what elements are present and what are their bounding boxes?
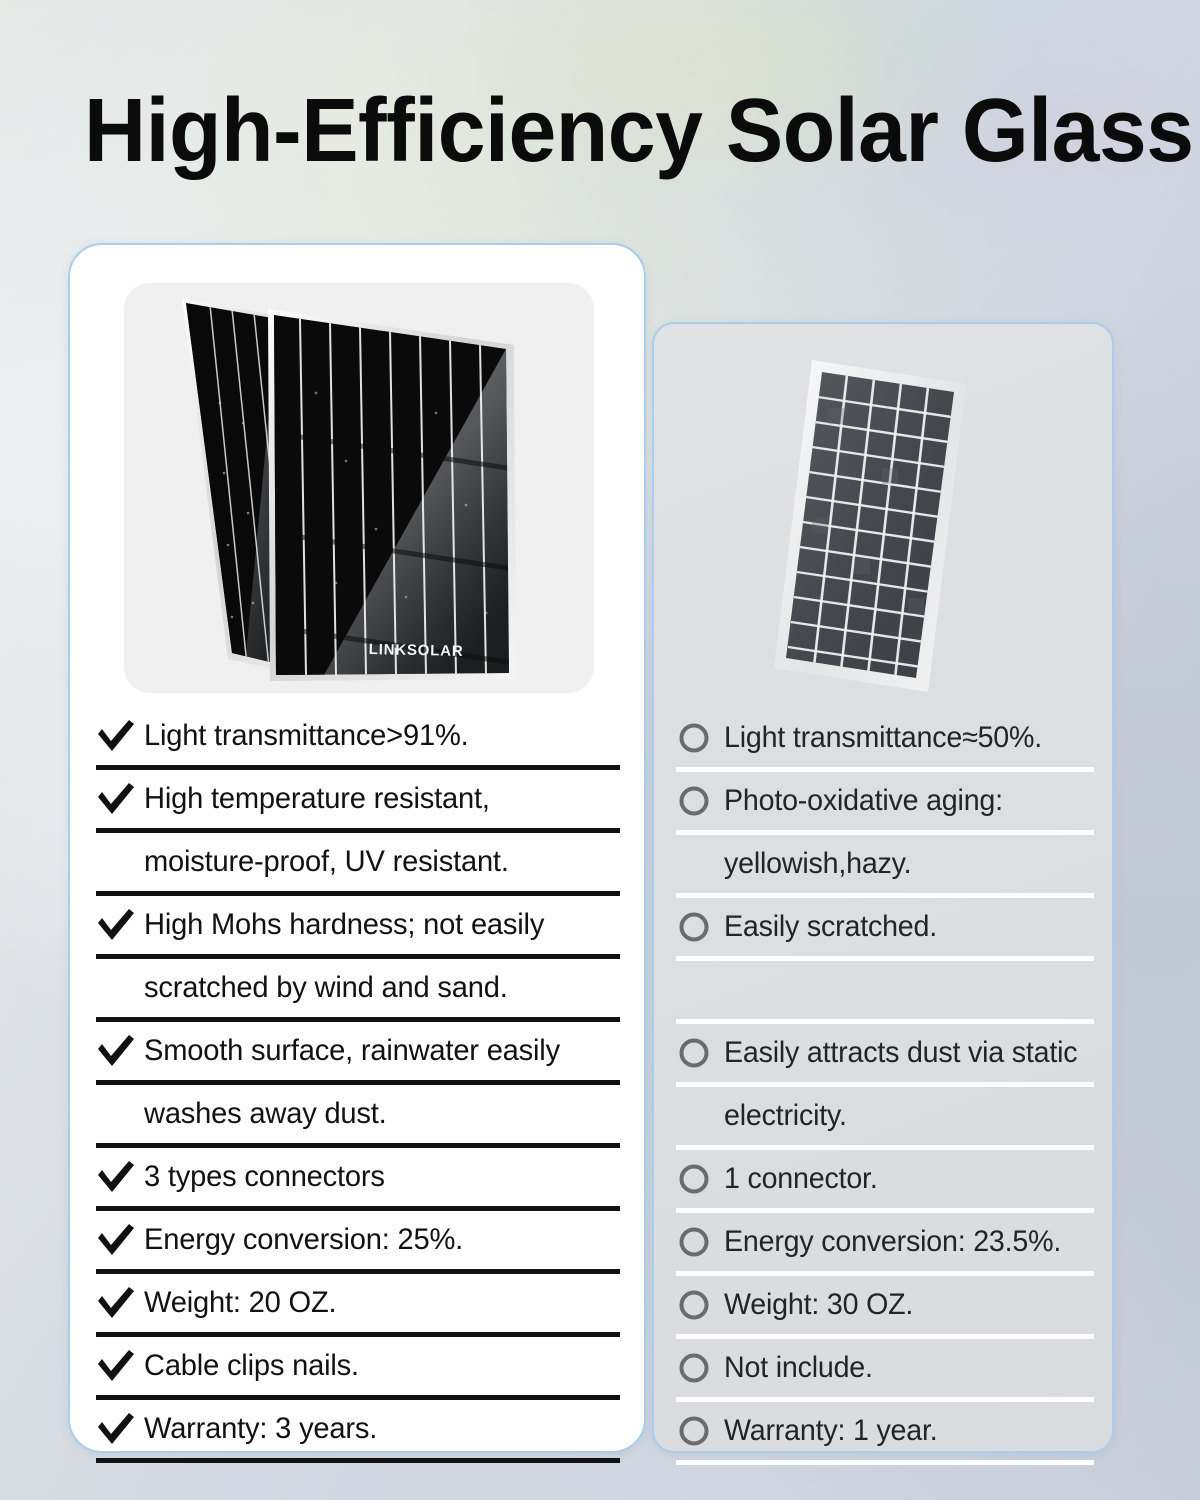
feature-row: Warranty: 3 years. bbox=[96, 1400, 620, 1463]
feature-text: washes away dust. bbox=[144, 1097, 387, 1131]
feature-text: High Mohs hardness; not easily bbox=[144, 908, 544, 942]
check-icon bbox=[96, 1412, 144, 1446]
front-panel: LINKSOLAR bbox=[268, 309, 516, 681]
feature-row: Energy conversion: 25%. bbox=[96, 1211, 620, 1274]
feature-row: 1 connector. bbox=[676, 1150, 1094, 1213]
feature-row: scratched by wind and sand. bbox=[96, 959, 620, 1022]
circle-icon bbox=[676, 911, 724, 943]
feature-row: Cable clips nails. bbox=[96, 1337, 620, 1400]
circle-icon bbox=[676, 785, 724, 817]
feature-text: Smooth surface, rainwater easily bbox=[144, 1034, 560, 1068]
feature-row: Not include. bbox=[676, 1339, 1094, 1402]
feature-text: Not include. bbox=[724, 1351, 873, 1385]
feature-text: 1 connector. bbox=[724, 1162, 878, 1196]
feature-text: moisture-proof, UV resistant. bbox=[144, 845, 509, 879]
feature-row: washes away dust. bbox=[96, 1085, 620, 1148]
check-icon bbox=[96, 1160, 144, 1194]
feature-text: Energy conversion: 25%. bbox=[144, 1223, 463, 1257]
check-icon bbox=[96, 1034, 144, 1068]
feature-text: scratched by wind and sand. bbox=[144, 971, 508, 1005]
circle-icon bbox=[676, 722, 724, 754]
circle-icon bbox=[676, 1289, 724, 1321]
linksolar-panels-illustration: LINKSOLAR bbox=[124, 283, 594, 693]
feature-row: Light transmittance≈50%. bbox=[676, 709, 1094, 772]
check-icon bbox=[96, 719, 144, 753]
feature-text: Easily scratched. bbox=[724, 910, 937, 944]
feature-text: electricity. bbox=[724, 1099, 847, 1133]
feature-row: Smooth surface, rainwater easily bbox=[96, 1022, 620, 1085]
feature-row: Photo-oxidative aging: bbox=[676, 772, 1094, 835]
feature-row: electricity. bbox=[676, 1087, 1094, 1150]
brand-label: LINKSOLAR bbox=[369, 641, 464, 660]
feature-text: Photo-oxidative aging: bbox=[724, 784, 1003, 818]
feature-row: yellowish,hazy. bbox=[676, 835, 1094, 898]
check-icon bbox=[96, 908, 144, 942]
feature-text: Energy conversion: 23.5%. bbox=[724, 1225, 1061, 1259]
feature-text: Warranty: 1 year. bbox=[724, 1414, 938, 1448]
bad-feature-list: Light transmittance≈50%. Photo-oxidative… bbox=[654, 709, 1112, 1465]
feature-text: yellowish,hazy. bbox=[724, 847, 911, 881]
feature-text: Easily attracts dust via static bbox=[724, 1036, 1077, 1070]
feature-row: Energy conversion: 23.5%. bbox=[676, 1213, 1094, 1276]
circle-icon bbox=[676, 1163, 724, 1195]
check-icon bbox=[96, 1349, 144, 1383]
feature-row: Weight: 30 OZ. bbox=[676, 1276, 1094, 1339]
circle-icon bbox=[676, 1352, 724, 1384]
feature-text: Cable clips nails. bbox=[144, 1349, 359, 1383]
feature-text: Light transmittance≈50%. bbox=[724, 721, 1042, 755]
feature-row: Weight: 20 OZ. bbox=[96, 1274, 620, 1337]
feature-text: Warranty: 3 years. bbox=[144, 1412, 377, 1446]
feature-text: 3 types connectors bbox=[144, 1160, 385, 1194]
feature-row: Easily attracts dust via static bbox=[676, 1024, 1094, 1087]
feature-text: Light transmittance>91%. bbox=[144, 719, 469, 753]
feature-row: 3 types connectors bbox=[96, 1148, 620, 1211]
good-feature-list: Light transmittance>91%. High temperatur… bbox=[70, 707, 644, 1463]
good-product-image: LINKSOLAR bbox=[124, 283, 594, 693]
feature-row: moisture-proof, UV resistant. bbox=[96, 833, 620, 896]
bad-product-image bbox=[682, 348, 1088, 704]
feature-row: Warranty: 1 year. bbox=[676, 1402, 1094, 1465]
page-title: High-Efficiency Solar Glass bbox=[84, 76, 1096, 186]
feature-row: High Mohs hardness; not easily bbox=[96, 896, 620, 959]
ordinary-panel-illustration bbox=[682, 348, 1088, 704]
bad-product-card: Light transmittance≈50%. Photo-oxidative… bbox=[652, 322, 1114, 1453]
check-icon bbox=[96, 782, 144, 816]
feature-row: High temperature resistant, bbox=[96, 770, 620, 833]
check-icon bbox=[96, 1286, 144, 1320]
feature-text: High temperature resistant, bbox=[144, 782, 490, 816]
feature-row-spacer bbox=[676, 961, 1094, 1024]
circle-icon bbox=[676, 1037, 724, 1069]
feature-text: Weight: 30 OZ. bbox=[724, 1288, 913, 1322]
check-icon bbox=[96, 1223, 144, 1257]
feature-text: Weight: 20 OZ. bbox=[144, 1286, 336, 1320]
feature-row: Light transmittance>91%. bbox=[96, 707, 620, 770]
good-product-card: LINKSOLAR Light transmittance>91%. High … bbox=[68, 243, 646, 1453]
circle-icon bbox=[676, 1415, 724, 1447]
feature-row: Easily scratched. bbox=[676, 898, 1094, 961]
circle-icon bbox=[676, 1226, 724, 1258]
